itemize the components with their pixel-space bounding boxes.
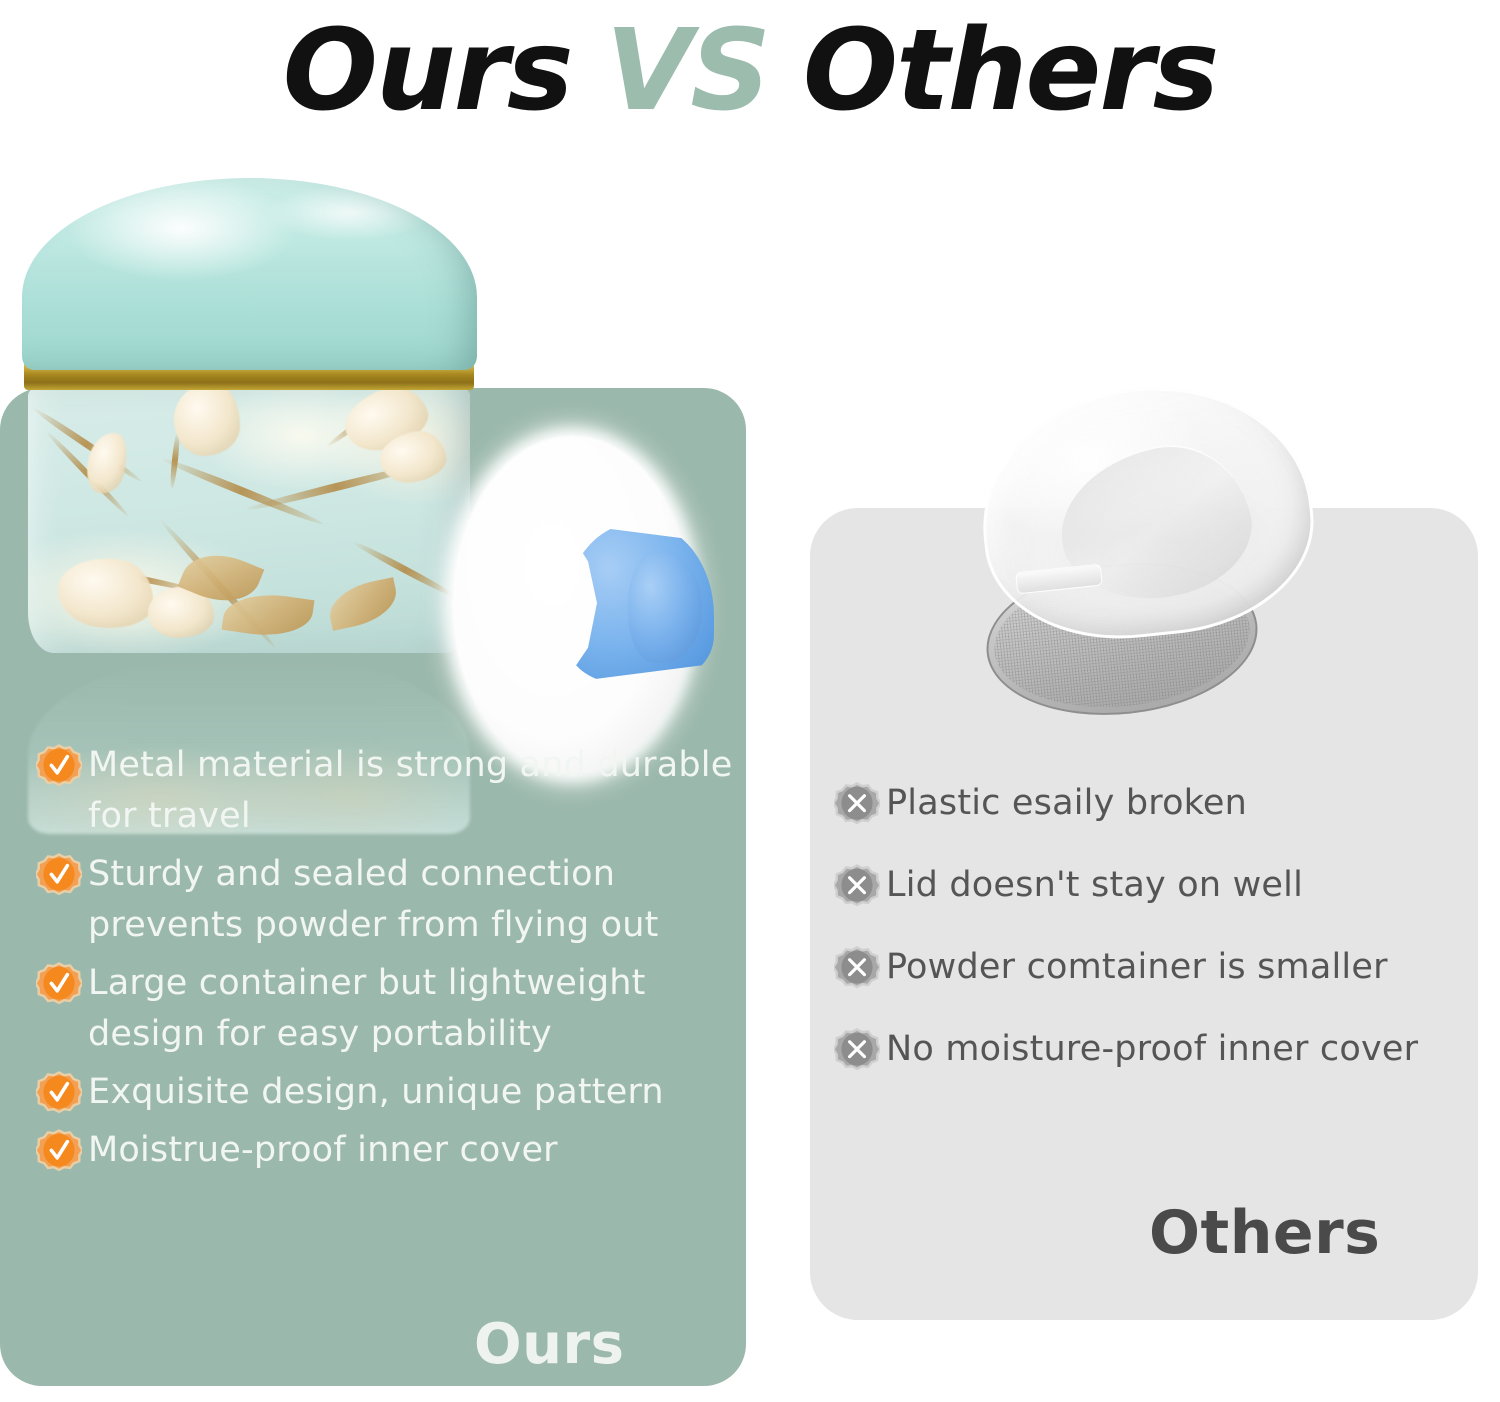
feature-label: Moistrue-proof inner cover [88, 1125, 558, 1176]
feature-label: No moisture-proof inner cover [886, 1024, 1418, 1075]
jar-gold-band [24, 356, 474, 390]
page-title: Ours VS Others [0, 6, 1500, 136]
list-item: Metal material is strong and durable for… [36, 740, 736, 843]
list-item: Large container but lightweight design f… [36, 958, 736, 1061]
cross-badge-icon [834, 782, 880, 830]
cross-badge-icon [834, 1028, 880, 1076]
list-item: No moisture-proof inner cover [834, 1024, 1464, 1076]
feature-label: Exquisite design, unique pattern [88, 1067, 664, 1118]
feature-label: Large container but lightweight design f… [88, 958, 736, 1061]
check-badge-icon [36, 1129, 82, 1177]
list-item: Sturdy and sealed connection prevents po… [36, 849, 736, 952]
list-item: Plastic esaily broken [834, 778, 1464, 830]
feature-label: Metal material is strong and durable for… [88, 740, 736, 843]
title-word-ours: Ours [283, 15, 572, 127]
feature-label: Plastic esaily broken [886, 778, 1247, 829]
feature-label: Lid doesn't stay on well [886, 860, 1303, 911]
list-item: Powder comtainer is smaller [834, 942, 1464, 994]
check-badge-icon [36, 853, 82, 901]
jar-lid-mint [22, 178, 477, 370]
feature-label: Powder comtainer is smaller [886, 942, 1388, 993]
title-word-vs: VS [606, 15, 769, 127]
ours-panel-label: Ours [474, 1312, 624, 1377]
list-item: Lid doesn't stay on well [834, 860, 1464, 912]
check-badge-icon [36, 744, 82, 792]
cross-badge-icon [834, 946, 880, 994]
title-word-others: Others [803, 15, 1217, 127]
check-badge-icon [36, 1071, 82, 1119]
check-badge-icon [36, 962, 82, 1010]
feature-label: Sturdy and sealed connection prevents po… [88, 849, 736, 952]
list-item: Exquisite design, unique pattern [36, 1067, 736, 1119]
others-feature-list: Plastic esaily broken Lid doesn't stay o… [834, 778, 1464, 1082]
others-panel-label: Others [1149, 1198, 1380, 1268]
list-item: Moistrue-proof inner cover [36, 1125, 736, 1177]
cross-badge-icon [834, 864, 880, 912]
ours-feature-list: Metal material is strong and durable for… [36, 740, 736, 1183]
